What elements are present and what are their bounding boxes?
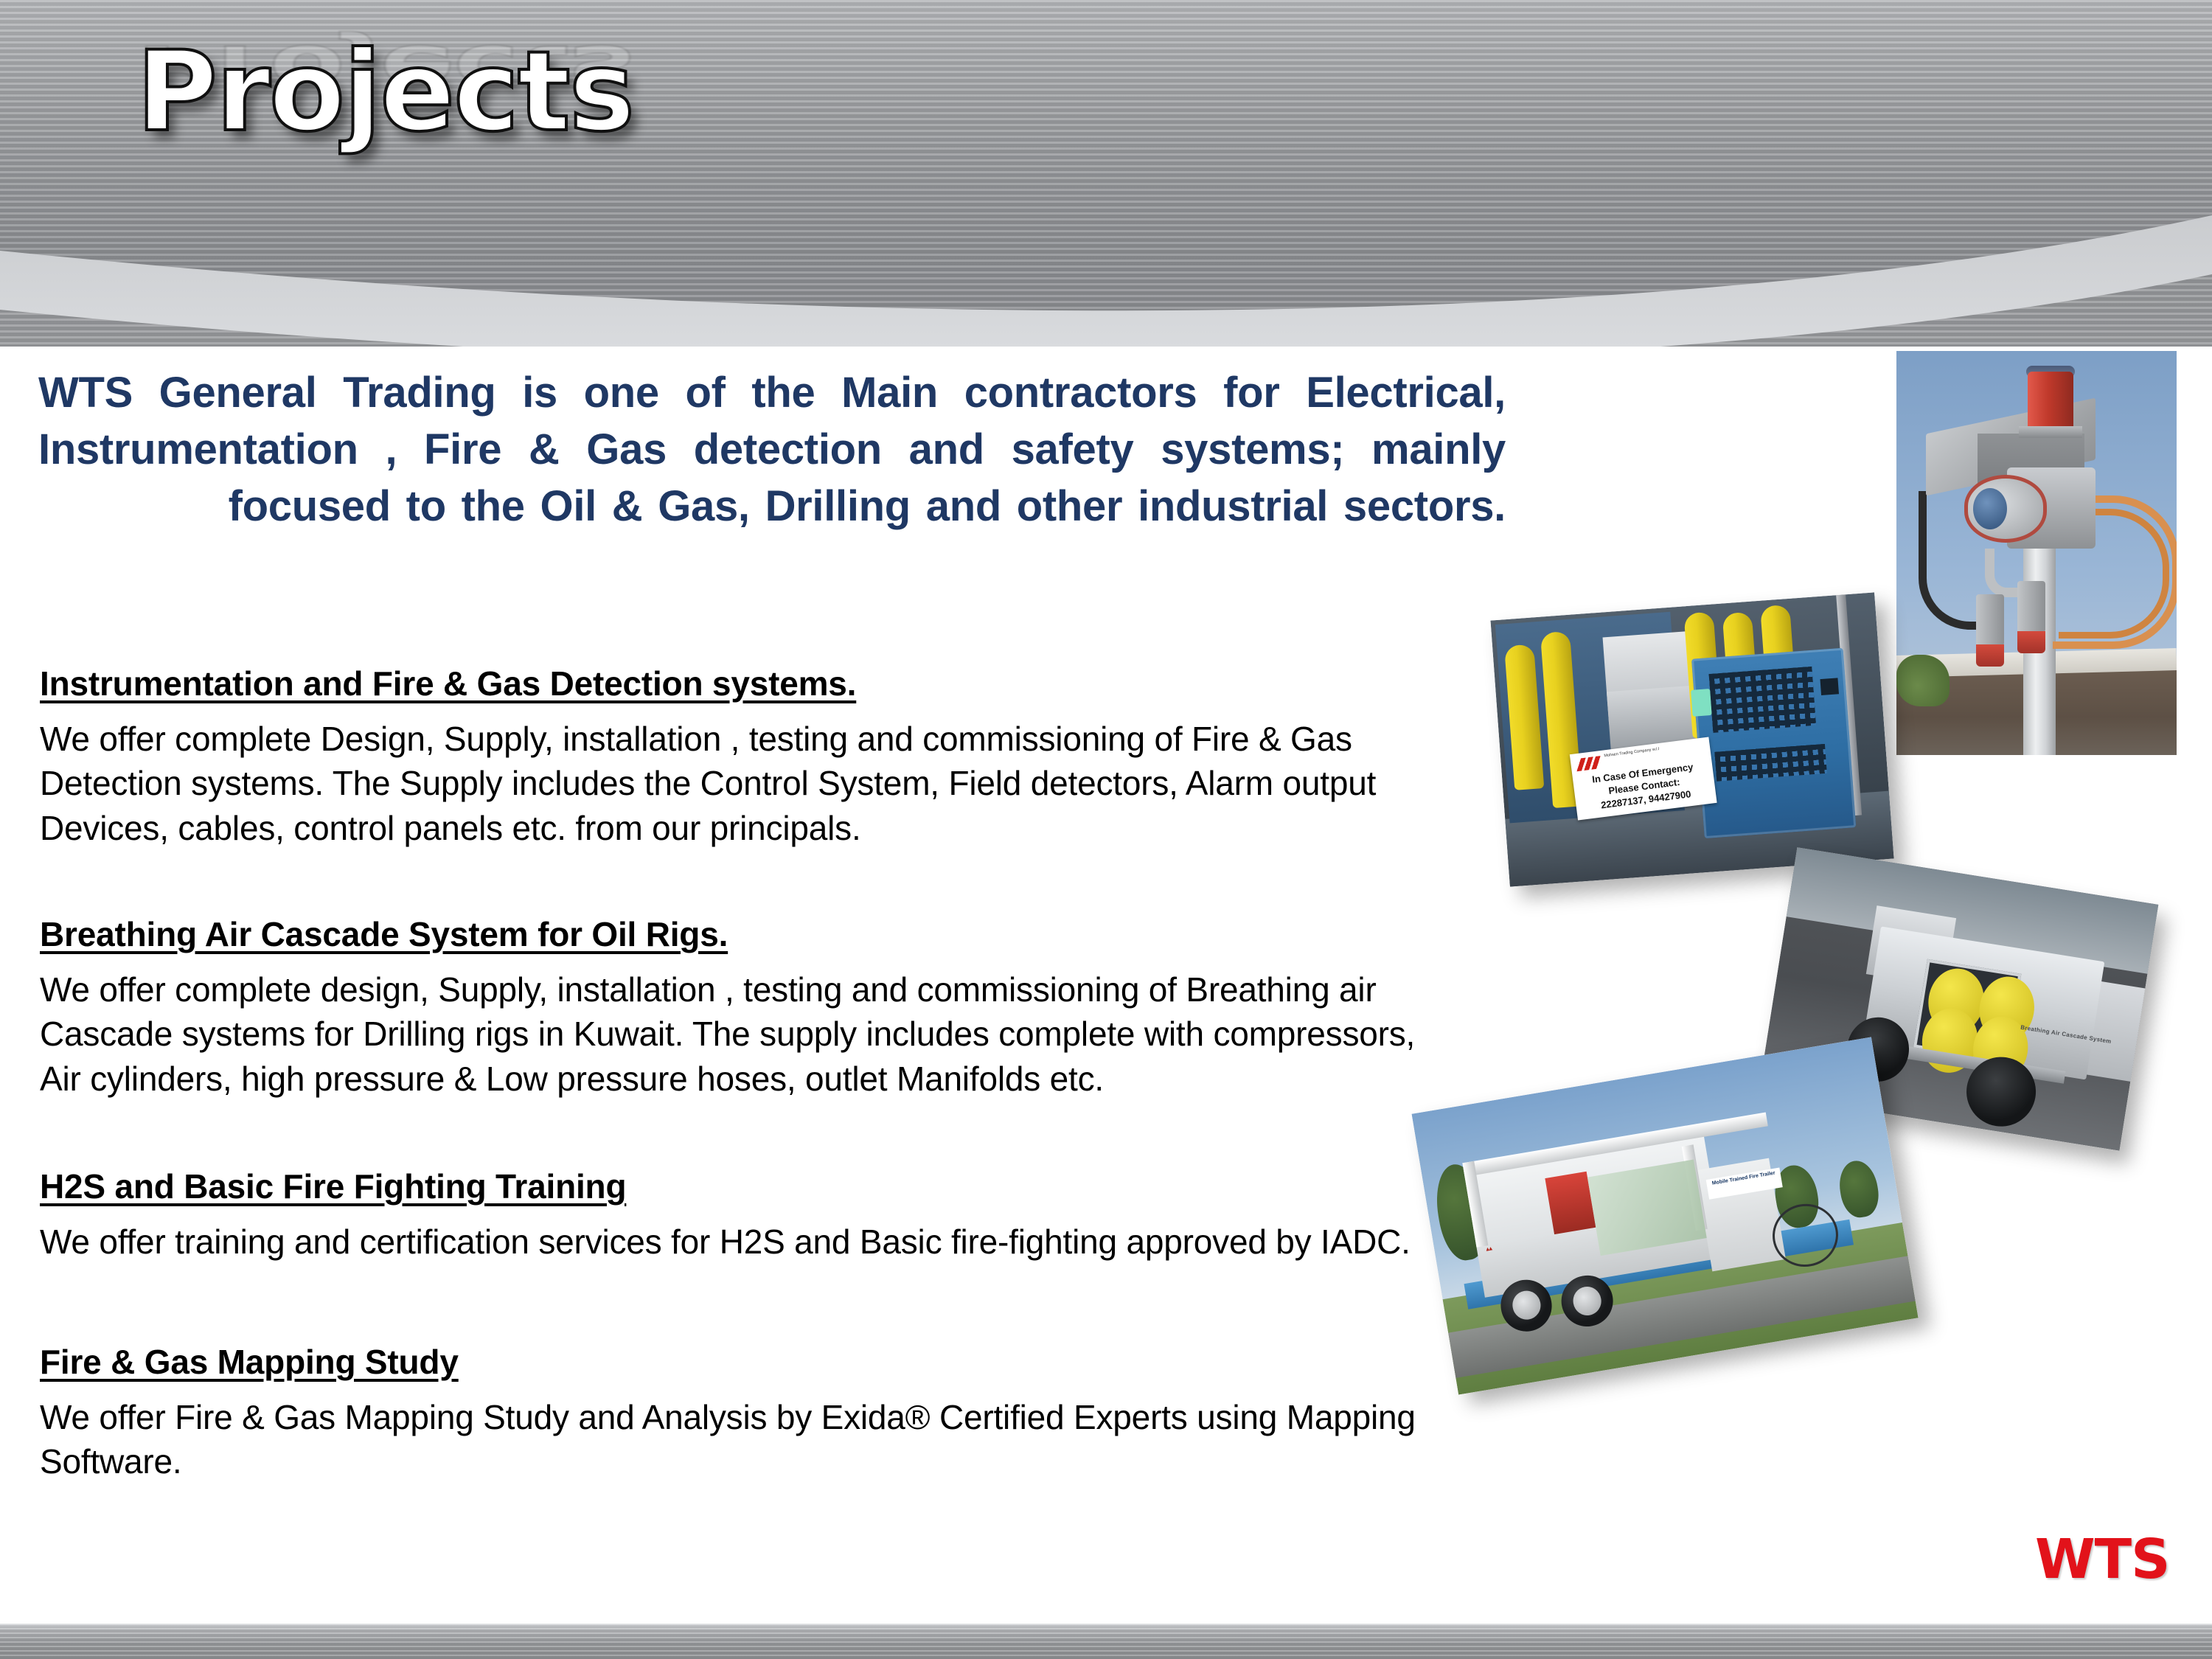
section-breathing-air: Breathing Air Cascade System for Oil Rig… xyxy=(40,914,1433,1101)
section-body: We offer Fire & Gas Mapping Study and An… xyxy=(40,1395,1433,1484)
panel-vent-grille-lower xyxy=(1714,744,1827,782)
panel-vent-grille-upper xyxy=(1709,667,1816,733)
photo-flame-detector-beacon xyxy=(1896,351,2177,755)
section-mapping-study: Fire & Gas Mapping Study We offer Fire &… xyxy=(40,1342,1433,1484)
section-heading: Instrumentation and Fire & Gas Detection… xyxy=(40,664,1433,703)
section-h2s-training: H2S and Basic Fire Fighting Training We … xyxy=(40,1166,1433,1264)
green-tag xyxy=(1691,689,1712,717)
company-logo-icon xyxy=(1576,756,1602,771)
section-heading: Breathing Air Cascade System for Oil Rig… xyxy=(40,914,1433,954)
photo-fire-fighting-training-trailer: Mobile Trained Fire Trailer ▴▴ xyxy=(1411,1037,1918,1394)
red-alarm-beacon xyxy=(2028,372,2073,429)
beacon-mount-plate xyxy=(2019,426,2082,438)
blue-control-panel xyxy=(1691,648,1856,838)
intro-paragraph: WTS General Trading is one of the Main c… xyxy=(38,364,1506,535)
red-plug-left xyxy=(1976,644,2004,667)
section-body: We offer training and certification serv… xyxy=(40,1220,1433,1264)
photo-gas-cylinders-control-panel: Mohsen Trading Company w.l.l In Case Of … xyxy=(1490,592,1893,886)
trailer-company-logo: ▴▴ xyxy=(1486,1245,1492,1252)
section-body: We offer complete design, Supply, instal… xyxy=(40,967,1433,1101)
detector-lens xyxy=(1973,488,2007,529)
section-heading: Fire & Gas Mapping Study xyxy=(40,1342,1433,1382)
foliage xyxy=(1896,655,1950,706)
slide-title: Projects xyxy=(136,28,633,156)
junction-box-right xyxy=(2017,581,2045,633)
placard-company-arabic: Mohsen Trading Company w.l.l xyxy=(1604,747,1660,759)
slide-footer-bar xyxy=(0,1624,2212,1659)
section-instrumentation: Instrumentation and Fire & Gas Detection… xyxy=(40,664,1433,850)
section-body: We offer complete Design, Supply, instal… xyxy=(40,717,1433,850)
wts-logo: WTS xyxy=(2035,1528,2169,1591)
red-plug-right xyxy=(2017,631,2045,653)
junction-box-left xyxy=(1976,594,2004,646)
slide-header: Projects Projects xyxy=(0,0,2212,347)
section-heading: H2S and Basic Fire Fighting Training xyxy=(40,1166,1433,1206)
panel-display xyxy=(1820,678,1839,695)
